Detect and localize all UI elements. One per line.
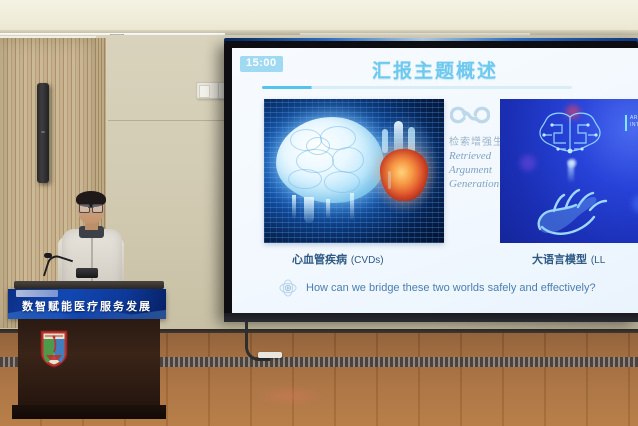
banner-text: 数智赋能医疗服务发展: [8, 298, 166, 314]
floor-outlet-plate: [258, 352, 282, 358]
lectern-device: [76, 268, 98, 278]
ai-label-line-1: ARTIFICIAL: [630, 115, 638, 122]
title-underline: [262, 86, 572, 89]
ai-label-bar: [625, 115, 627, 131]
chain-link-icon: [450, 104, 490, 126]
display-bottom-bezel: [224, 313, 638, 322]
llm-caption: 大语言模型 (LL: [532, 251, 605, 267]
presentation-room-photo: 15:00 汇报主题概述: [0, 0, 638, 426]
lectern-banner: 数智赋能医疗服务发展: [8, 289, 166, 319]
llm-image: ARTIFICIAL INTELLIGENCE Ch: [500, 99, 638, 243]
brain-stem: [304, 197, 314, 223]
gooseneck-microphone: [46, 256, 76, 282]
speaker-logo: [41, 131, 45, 133]
switch-rocker[interactable]: [199, 85, 210, 98]
heart-illustration: [374, 119, 434, 211]
lectern: 数智赋能医疗服务发展: [8, 281, 166, 426]
floor-light-reflection: [255, 385, 325, 407]
ceiling: [0, 0, 638, 34]
brain-drip: [292, 195, 296, 219]
ai-label-line-2: INTELLIGENCE: [630, 122, 638, 129]
brain-drip: [326, 199, 330, 219]
lectern-top: [14, 281, 164, 289]
lectern-base: [12, 405, 166, 419]
cvd-caption-en: (CVDs): [351, 255, 384, 266]
slide-question-row: How can we bridge these two worlds safel…: [278, 278, 628, 298]
wall-speaker: [37, 83, 49, 183]
presenter-glasses: [79, 204, 103, 211]
llm-caption-en: (LL: [591, 255, 605, 266]
brain-drip: [350, 193, 354, 221]
jacket-zipper: [91, 235, 93, 287]
light-switch-left[interactable]: [196, 82, 220, 99]
chatgpt-logo-icon: [634, 165, 638, 221]
slide-title: 汇报主题概述: [232, 56, 638, 83]
llm-caption-cn: 大语言模型: [532, 253, 587, 266]
cvd-image: [264, 99, 444, 243]
cvd-caption: 心血管疾病 (CVDs): [292, 251, 384, 267]
open-hand-illustration: [524, 177, 620, 237]
banner-logo: [16, 290, 58, 297]
cvd-caption-cn: 心血管疾病: [292, 253, 347, 266]
ai-label: ARTIFICIAL INTELLIGENCE: [630, 115, 638, 129]
institution-crest-icon: [39, 329, 69, 369]
slide-canvas: 15:00 汇报主题概述: [232, 48, 638, 313]
atom-icon: [278, 278, 298, 298]
slide-question-text: How can we bridge these two worlds safel…: [306, 282, 596, 294]
